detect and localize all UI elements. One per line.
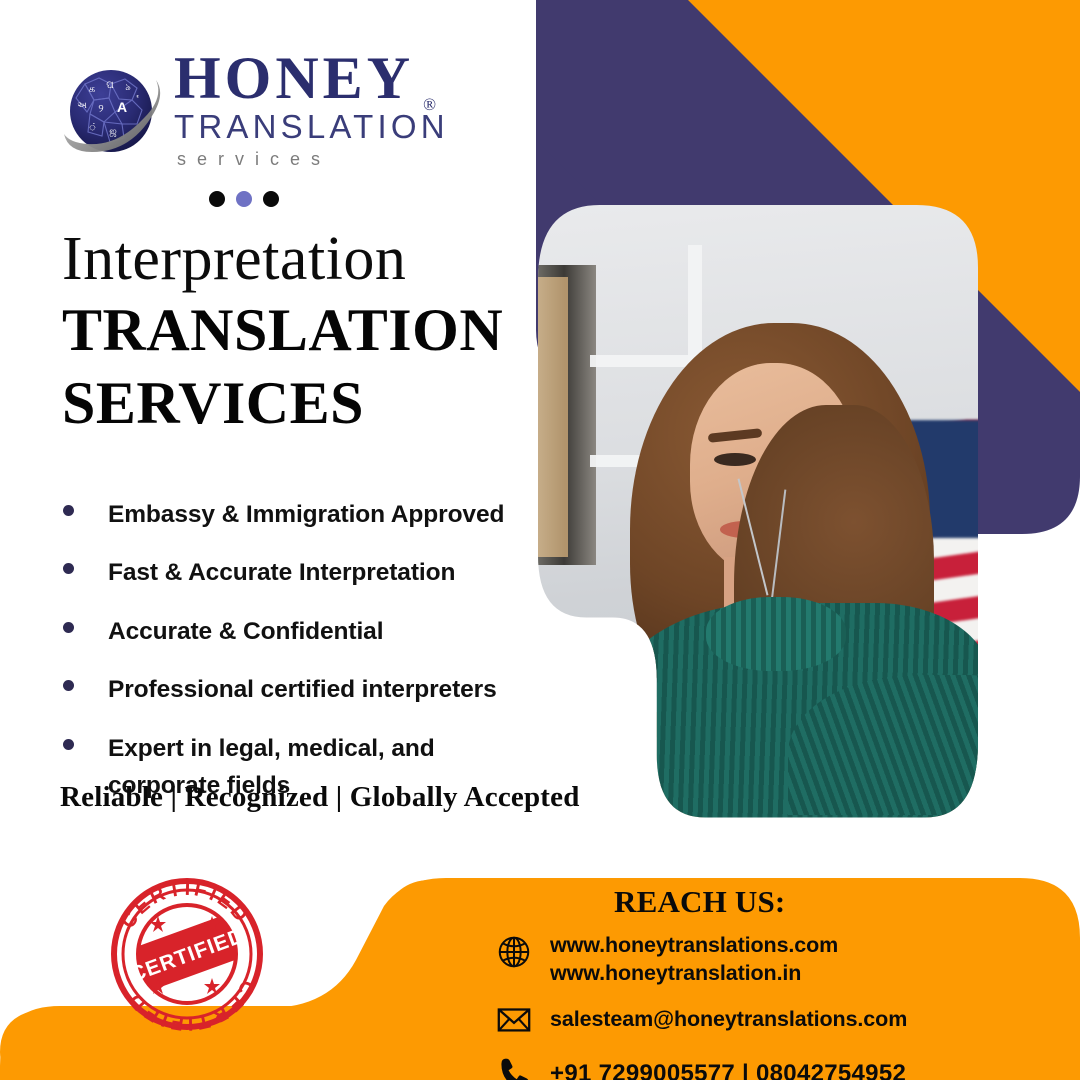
contact-row-phone[interactable]: +91 7299005577 | 08042754952 (492, 1051, 1052, 1080)
certified-stamp-icon: CERTIFIED CERTIFIED CERTIFIED (104, 872, 270, 1036)
feature-list: Embassy & Immigration Approved Fast & Ac… (55, 496, 555, 826)
phone-text: +91 7299005577 | 08042754952 (550, 1051, 906, 1080)
email-text: salesteam@honeytranslations.com (550, 997, 907, 1034)
brand-logo[interactable]: க ପ ৯ અ ୨ A ๎ ் ஜ ୔ HONEY® TRANSLATION s… (52, 48, 472, 178)
svg-text:ପ: ପ (106, 80, 114, 91)
list-item: Fast & Accurate Interpretation (55, 554, 555, 591)
bullet-icon (63, 622, 74, 633)
bullet-icon (63, 563, 74, 574)
poster-canvas: க ପ ৯ અ ୨ A ๎ ் ஜ ୔ HONEY® TRANSLATION s… (0, 0, 1080, 1080)
tagline: Reliable | Recognized | Globally Accepte… (60, 781, 580, 814)
divider-dot-3 (263, 191, 279, 207)
logo-line2: TRANSLATION (174, 110, 474, 145)
globe-icon (492, 930, 536, 974)
list-item: Accurate & Confidential (55, 613, 555, 650)
list-item: Professional certified interpreters (55, 671, 555, 708)
headline-script: Interpretation (62, 228, 532, 291)
contact-row-website[interactable]: www.honeytranslations.com www.honeytrans… (492, 928, 1052, 987)
contact-list: www.honeytranslations.com www.honeytrans… (492, 928, 1052, 1080)
registered-mark-icon: ® (423, 96, 436, 113)
list-item-label: Professional certified interpreters (108, 671, 497, 708)
photo-eye (714, 453, 756, 466)
reach-us-title: REACH US: (614, 884, 785, 920)
contact-row-email[interactable]: salesteam@honeytranslations.com (492, 997, 1052, 1041)
phone-icon (492, 1051, 536, 1080)
website-line-2: www.honeytranslation.in (550, 961, 801, 985)
svg-text:க: க (89, 84, 95, 95)
svg-text:৯: ৯ (125, 82, 131, 92)
purple-band-overlay (536, 0, 700, 60)
list-item-label: Accurate & Confidential (108, 613, 383, 650)
bullet-icon (63, 680, 74, 691)
website-line-1: www.honeytranslations.com (550, 933, 838, 957)
list-item-label: Embassy & Immigration Approved (108, 496, 504, 533)
svg-text:ஜ: ஜ (109, 126, 117, 137)
headline-bold-2: SERVICES (62, 370, 532, 437)
list-item: Embassy & Immigration Approved (55, 496, 555, 533)
envelope-icon (492, 997, 536, 1041)
divider-dot-2 (236, 191, 252, 207)
svg-text:୨: ୨ (98, 103, 103, 115)
photo-collar (706, 597, 846, 671)
divider-dot-1 (209, 191, 225, 207)
bullet-icon (63, 739, 74, 750)
page-title: Interpretation TRANSLATION SERVICES (62, 228, 532, 438)
list-item-label: Fast & Accurate Interpretation (108, 554, 455, 591)
svg-text:CERTIFIED: CERTIFIED (123, 976, 259, 1034)
bullet-icon (63, 505, 74, 516)
logo-wordmark: HONEY® TRANSLATION services (174, 48, 474, 170)
website-text: www.honeytranslations.com www.honeytrans… (550, 928, 838, 987)
logo-name: HONEY (174, 48, 414, 108)
headline-bold-1: TRANSLATION (62, 297, 532, 364)
svg-text:અ: અ (77, 100, 87, 110)
svg-text:்: ் (89, 122, 98, 133)
interpreter-photo (538, 205, 978, 830)
globe-languages-icon: க ପ ৯ અ ୨ A ๎ ் ஜ ୔ (52, 54, 170, 166)
dot-divider (209, 191, 279, 207)
svg-text:A: A (117, 99, 127, 115)
logo-line3: services (174, 149, 474, 170)
